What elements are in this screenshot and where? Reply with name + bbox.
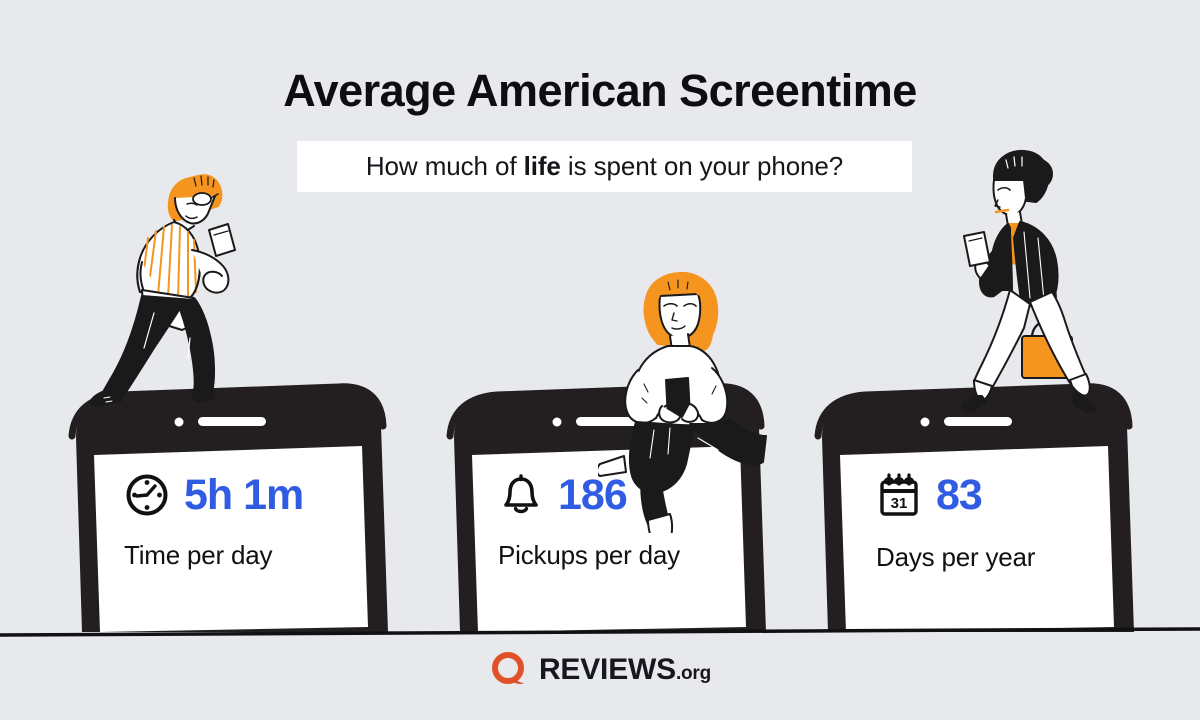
stat-value: 83 xyxy=(936,474,982,517)
subtitle-banner: How much of life is spent on your phone? xyxy=(297,141,912,192)
infographic-canvas: Average American Screentime How much of … xyxy=(0,0,1200,720)
subtitle-prefix: How much of xyxy=(366,151,524,181)
illustration-walking-woman-with-phone xyxy=(958,140,1118,415)
illustration-walking-man-with-phone xyxy=(82,158,272,408)
subtitle-text: How much of life is spent on your phone? xyxy=(366,151,843,182)
stat-row: 31 83 xyxy=(876,470,982,520)
logo-tld: .org xyxy=(676,663,711,684)
calendar-day-number: 31 xyxy=(891,495,908,512)
stat-label: Time per day xyxy=(124,540,272,571)
phone-card-time-per-day: 5h 1m Time per day xyxy=(62,382,392,632)
logo-name: REVIEWS xyxy=(539,653,676,686)
stat-block-days-per-year: 31 83 Days per year xyxy=(876,470,1035,573)
stat-value: 5h 1m xyxy=(184,474,303,517)
page-title: Average American Screentime xyxy=(0,62,1200,120)
ground-line xyxy=(0,626,1200,640)
subtitle-suffix: is spent on your phone? xyxy=(561,151,843,181)
calendar-icon: 31 xyxy=(876,470,922,520)
subtitle-emphasis: life xyxy=(524,151,561,181)
clock-icon xyxy=(124,472,170,518)
stat-label: Pickups per day xyxy=(498,540,680,571)
reviews-org-logo[interactable]: REVIEWS.org xyxy=(0,650,1200,690)
q-mark-icon xyxy=(489,650,529,690)
bell-icon xyxy=(498,472,544,518)
stat-row: 5h 1m xyxy=(124,472,303,518)
stat-label: Days per year xyxy=(876,542,1035,573)
phone-card-days-per-year: 31 83 Days per year xyxy=(808,382,1138,632)
illustration-seated-woman-with-phone xyxy=(598,258,773,533)
logo-wordmark: REVIEWS.org xyxy=(539,655,711,685)
stat-block-time-per-day: 5h 1m Time per day xyxy=(124,472,303,571)
